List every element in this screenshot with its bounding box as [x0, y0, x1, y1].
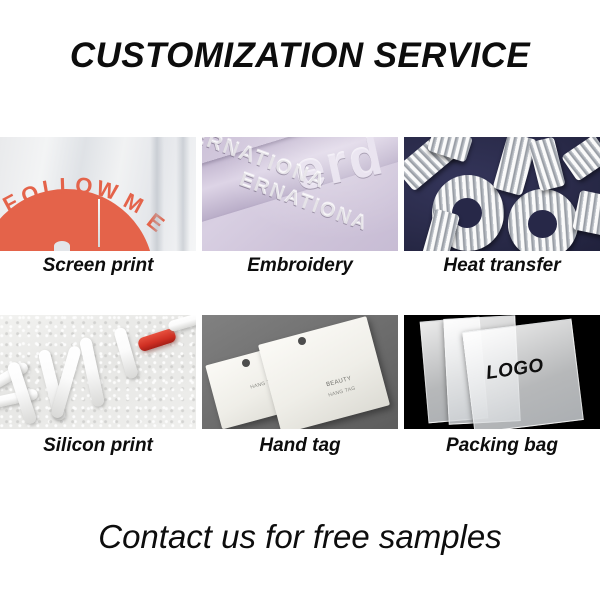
heat-transfer-stroke [561, 137, 600, 182]
hand-tag-hole [242, 359, 250, 367]
fabric-fold [150, 137, 164, 251]
sample-label-screen-print: Screen print [0, 255, 196, 277]
sample-card-silicon-print[interactable]: Silicon print [0, 315, 196, 493]
sample-label-embroidery: Embroidery [202, 255, 398, 277]
screen-print-photo: N 'T F O L L O W M E [0, 137, 196, 251]
screen-print-arc-text: N 'T F O L L O W M E [0, 165, 170, 251]
sample-card-embroidery[interactable]: erd ERNATIONA ERNATIONA Embroidery [202, 137, 398, 315]
heat-transfer-stroke [572, 190, 600, 236]
heat-transfer-photo [404, 137, 600, 251]
packing-bag-photo: LOGO [404, 315, 600, 429]
heat-transfer-stroke [528, 137, 565, 191]
fabric-fold [176, 137, 190, 251]
hand-tag-hole [298, 337, 306, 345]
heat-transfer-digit-8 [508, 189, 578, 251]
sample-card-heat-transfer[interactable]: Heat transfer [404, 137, 600, 315]
sample-card-hand-tag[interactable]: HANG TAG BEAUTY HANG TAG Hand tag [202, 315, 398, 493]
hand-tag-front [258, 316, 390, 429]
embroidery-photo: erd ERNATIONA ERNATIONA [202, 137, 398, 251]
page-title: CUSTOMIZATION SERVICE [0, 36, 600, 76]
hand-tag-photo: HANG TAG BEAUTY HANG TAG [202, 315, 398, 429]
sample-card-packing-bag[interactable]: LOGO Packing bag [404, 315, 600, 493]
screen-print-knob [54, 241, 70, 251]
sample-label-heat-transfer: Heat transfer [404, 255, 600, 277]
sample-row-1: N 'T F O L L O W M E [0, 137, 600, 315]
silicon-print-photo [0, 315, 196, 429]
sample-label-packing-bag: Packing bag [404, 435, 600, 457]
sample-row-2: Silicon print HANG TAG BEAUTY HANG TAG H… [0, 315, 600, 493]
sample-grid: N 'T F O L L O W M E [0, 137, 600, 493]
embroidery-sheen [202, 137, 398, 251]
sample-card-screen-print[interactable]: N 'T F O L L O W M E [0, 137, 196, 315]
customization-service-poster: CUSTOMIZATION SERVICE N 'T F O L L O W [0, 0, 600, 601]
call-to-action-text: Contact us for free samples [0, 518, 600, 556]
screen-print-needle [98, 199, 100, 247]
sample-label-hand-tag: Hand tag [202, 435, 398, 457]
sample-label-silicon-print: Silicon print [0, 435, 196, 457]
